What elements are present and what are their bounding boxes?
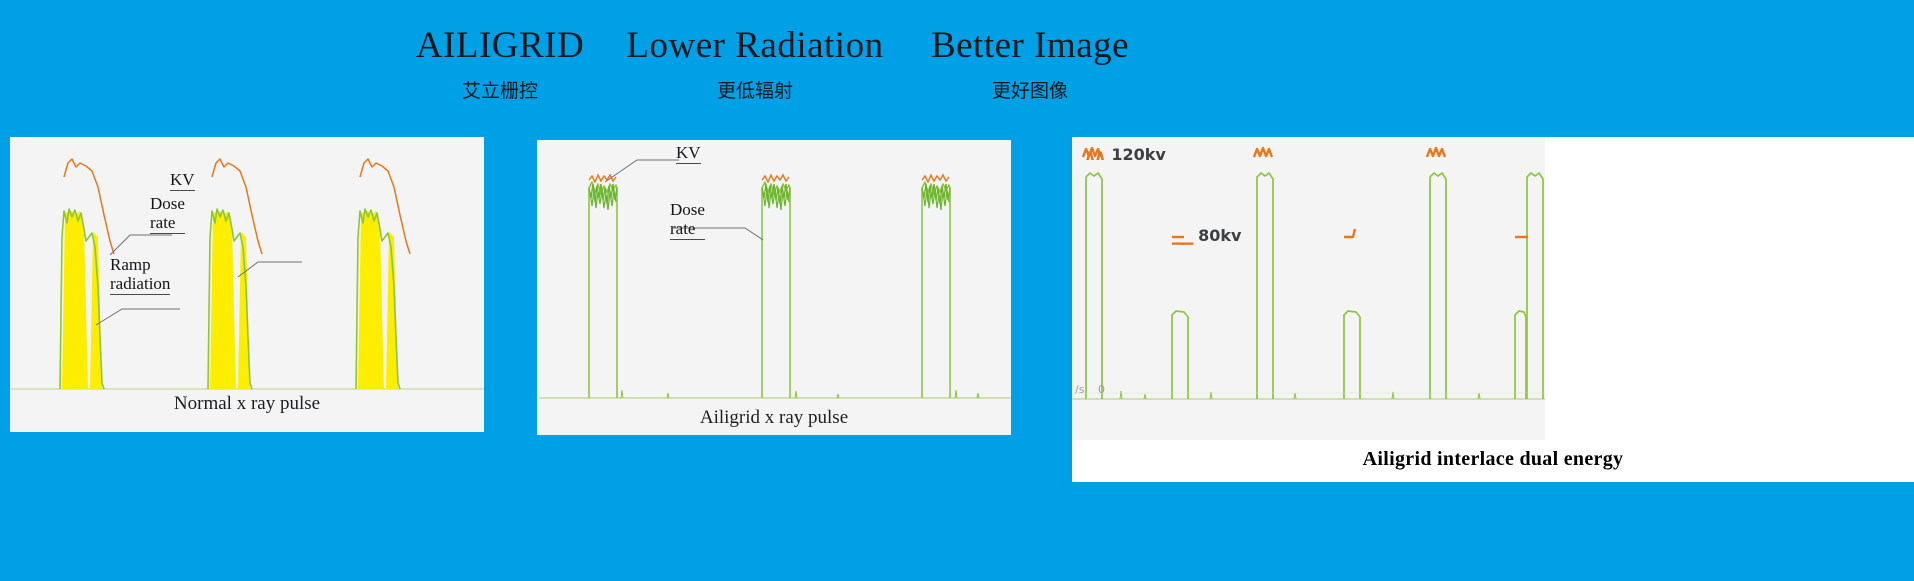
axis-zero-label: 0 (1098, 383, 1105, 396)
header-title-cn-0: 艾立栅控 (370, 76, 630, 106)
header-banner: AILIGRID 艾立栅控 Lower Radiation 更低辐射 Bette… (0, 0, 1914, 137)
annotation-kv-panel-ailigrid: KV (676, 143, 701, 164)
panel-caption-interlace: Ailigrid interlace dual energy (1072, 448, 1914, 471)
panel-ailigrid-x-ray-pulse: KV Dose rate (537, 140, 1011, 435)
panel-interlace-white-extension (1545, 137, 1914, 440)
header-title-en-0: AILIGRID (370, 22, 630, 70)
legend-item-120kv: ∧∧120kv (1084, 145, 1166, 164)
annotation-ramp-radiation-panel-normal: Ramp radiation (110, 255, 170, 295)
header-column-ailigrid: AILIGRID 艾立栅控 (370, 22, 630, 106)
panel-ailigrid-interlace-dual-energy: ∧∧120kv ▁▁80kv /s 0 (1072, 137, 1545, 440)
kv-80-marker-icon: ▁▁ (1172, 227, 1191, 245)
plot-ailigrid-interlace-dual-energy (1072, 137, 1545, 440)
header-column-better-image: Better Image 更好图像 (900, 22, 1160, 106)
panel-normal-x-ray-pulse: KV Dose rate Ramp radiation (10, 137, 484, 432)
header-title-en-2: Better Image (900, 22, 1160, 70)
header-column-lower-radiation: Lower Radiation 更低辐射 (620, 22, 890, 106)
annotation-dose-rate-panel-ailigrid: Dose rate (670, 200, 705, 240)
plot-normal-x-ray-pulse (10, 137, 484, 432)
kv-120-marker-icon: ∧∧ (1084, 146, 1104, 164)
header-title-cn-1: 更低辐射 (620, 76, 890, 106)
annotation-kv-panel-normal: KV (170, 170, 195, 191)
panel-caption-ailigrid: Ailigrid x ray pulse (537, 407, 1011, 429)
header-title-en-1: Lower Radiation (620, 22, 890, 70)
legend-label-120kv: 120kv (1111, 145, 1165, 164)
header-title-cn-2: 更好图像 (900, 76, 1160, 106)
legend-item-80kv: ▁▁80kv (1172, 226, 1241, 245)
annotation-dose-rate-panel-normal: Dose rate (150, 194, 185, 234)
legend-label-80kv: 80kv (1198, 226, 1241, 245)
axis-unit-label: /s (1075, 383, 1084, 396)
panel-caption-normal: Normal x ray pulse (10, 393, 484, 415)
plot-ailigrid-x-ray-pulse (537, 140, 1011, 435)
